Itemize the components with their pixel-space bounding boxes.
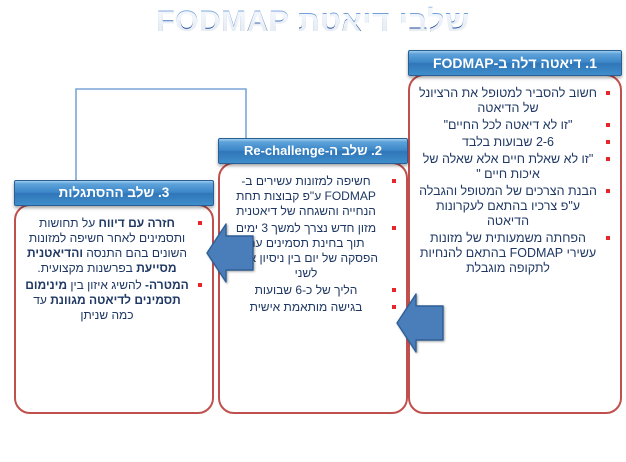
list-item: חשוב להסביר למטופל את הרציונל של הדיאטה: [418, 86, 612, 116]
list-item: "זו לא שאלת חיים אלא שאלה של איכות חיים …: [418, 152, 612, 182]
bullet-text: "זו לא שאלת חיים אלא שאלה של איכות חיים …: [423, 152, 594, 181]
stage-3-body: חזרה עם דיווח על תחושות ותסמינים לאחר חש…: [14, 204, 214, 414]
bullet-text: להשיג איזון בין: [67, 278, 142, 292]
stage-2-header: 2. שלב ה-Re-challenge: [218, 138, 408, 164]
stage-2-body: חשיפה למזונות עשירים ב-FODMAP ע"פ קבוצות…: [218, 162, 408, 414]
stage-1-bullet-list: חשוב להסביר למטופל את הרציונל של הדיאטה …: [418, 86, 612, 276]
bullet-text: הליך של כ-6 שבועות: [255, 283, 358, 297]
bullet-text: בגישה מותאמת אישית: [250, 300, 363, 314]
bullet-text: מזון חדש נצרך למשך 3 ימים תוך בחינת תסמי…: [234, 221, 378, 280]
bullet-text: 2-6 שבועות בלבד: [462, 135, 554, 149]
list-item: חזרה עם דיווח על תחושות ותסמינים לאחר חש…: [24, 216, 204, 276]
bullet-text-bold: המטרה-: [142, 278, 189, 292]
bullet-text: הבנת הצרכים של המטופל והגבלה ע"פ צרכיו ב…: [419, 184, 597, 228]
bullet-text-bold: חזרה עם דיווח: [95, 216, 175, 230]
bullet-text: "זו לא דיאטה לכל החיים": [444, 118, 573, 132]
stage-3-header: 3. שלב ההסתגלות: [14, 180, 214, 206]
stage-1-panel: 1. דיאטה דלה ב-FODMAP חשוב להסביר למטופל…: [408, 50, 622, 414]
stage-3-panel: 3. שלב ההסתגלות חזרה עם דיווח על תחושות …: [14, 180, 214, 414]
arrow-stage2-to-stage3-icon: [396, 292, 444, 354]
stage-1-header: 1. דיאטה דלה ב-FODMAP: [408, 50, 622, 76]
bullet-text: חשוב להסביר למטופל את הרציונל של הדיאטה: [419, 86, 597, 115]
stage-3-bullet-list: חזרה עם דיווח על תחושות ותסמינים לאחר חש…: [24, 216, 204, 323]
bullet-text: חשיפה למזונות עשירים ב-FODMAP ע"פ קבוצות…: [236, 174, 376, 218]
list-item: חשיפה למזונות עשירים ב-FODMAP ע"פ קבוצות…: [228, 174, 398, 219]
list-item: הליך של כ-6 שבועות: [228, 283, 398, 298]
arrow-stage1-to-stage2-icon: [206, 222, 254, 284]
bullet-text: הפחתה משמעותית של מזונות עשירי FODMAP בה…: [420, 231, 596, 275]
list-item: "זו לא דיאטה לכל החיים": [418, 118, 612, 133]
list-item: המטרה- להשיג איזון בין מינימום תסמינים ל…: [24, 278, 204, 323]
list-item: 2-6 שבועות בלבד: [418, 135, 612, 150]
page-title: שלבי דיאטת FODMAP: [0, 2, 626, 42]
bullet-text: בפרשנות מקצועית.: [37, 261, 132, 275]
stage-1-body: חשוב להסביר למטופל את הרציונל של הדיאטה …: [408, 74, 622, 414]
list-item: הבנת הצרכים של המטופל והגבלה ע"פ צרכיו ב…: [418, 184, 612, 229]
list-item: הפחתה משמעותית של מזונות עשירי FODMAP בה…: [418, 231, 612, 276]
list-item: בגישה מותאמת אישית: [228, 300, 398, 315]
